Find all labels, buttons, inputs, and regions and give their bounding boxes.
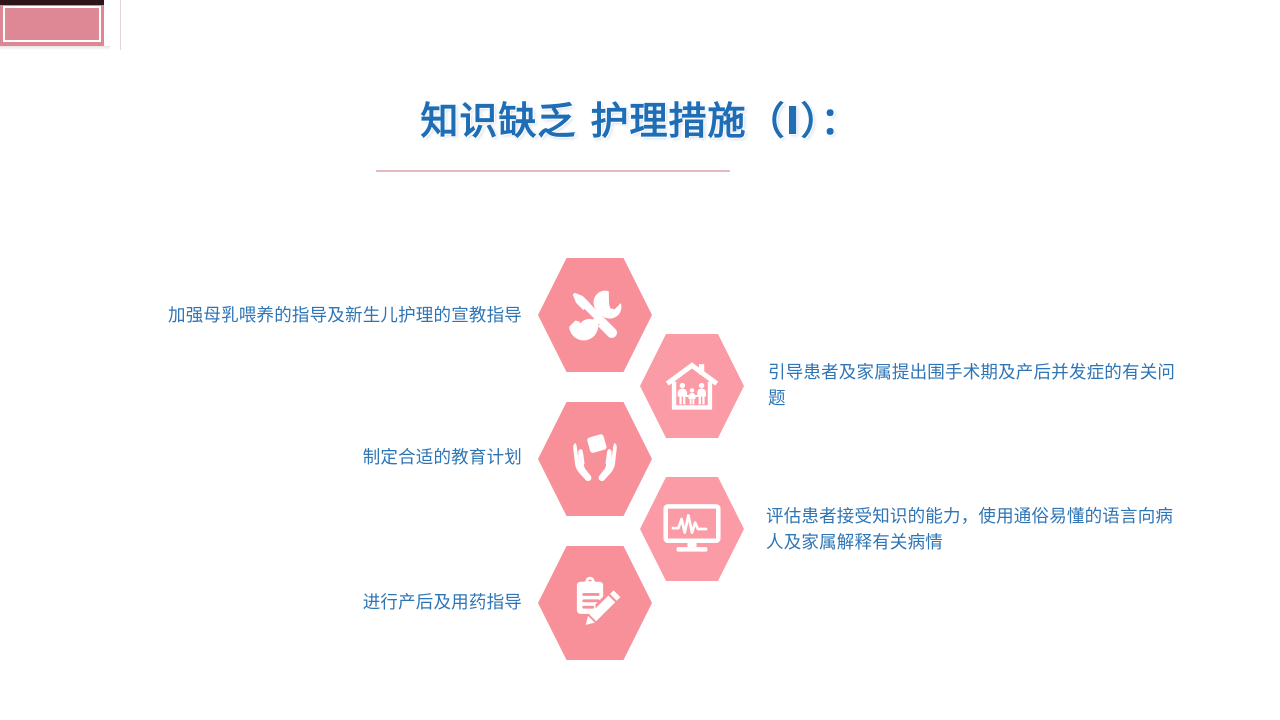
family-house-icon xyxy=(640,334,744,438)
item-label-2: 引导患者及家属提出围手术期及产后并发症的有关问题 xyxy=(768,360,1188,413)
tools-wrench-screwdriver-icon xyxy=(538,258,652,372)
item-label-3: 制定合适的教育计划 xyxy=(282,445,522,471)
item-label-1: 加强母乳喂养的指导及新生儿护理的宣教指导 xyxy=(90,303,522,329)
hexagon-item-1[interactable] xyxy=(538,258,652,372)
hexagon-item-4[interactable] xyxy=(640,477,744,581)
item-label-4: 评估患者接受知识的能力，使用通俗易懂的语言向病人及家属解释有关病情 xyxy=(766,504,1186,557)
hexagon-item-3[interactable] xyxy=(538,402,652,516)
caring-hands-icon xyxy=(538,402,652,516)
clipboard-pencil-icon xyxy=(538,546,652,660)
item-label-5: 进行产后及用药指导 xyxy=(282,590,522,616)
hexagon-item-2[interactable] xyxy=(640,334,744,438)
monitor-ecg-icon xyxy=(640,477,744,581)
hexagon-item-5[interactable] xyxy=(538,546,652,660)
